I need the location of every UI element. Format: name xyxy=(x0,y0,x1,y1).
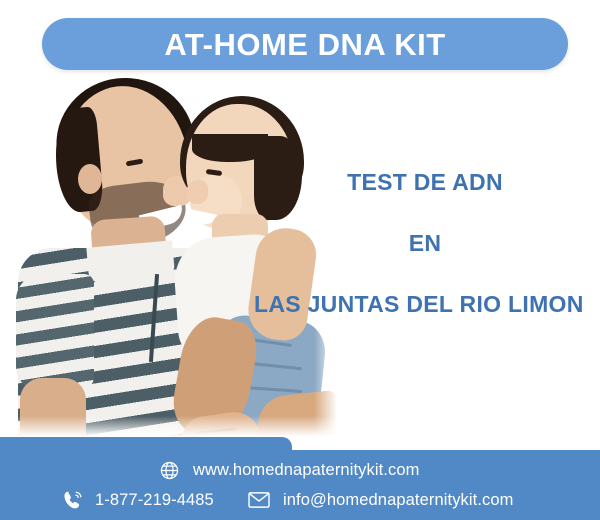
envelope-icon xyxy=(248,489,270,511)
globe-icon xyxy=(158,459,180,481)
footer-phone[interactable]: 1-877-219-4485 xyxy=(62,489,214,511)
header-banner: AT-HOME DNA KIT xyxy=(42,18,568,70)
photo-canvas xyxy=(0,78,340,440)
footer-content: www.homednapaternitykit.com 1-877-219-44… xyxy=(0,437,600,520)
footer-website[interactable]: www.homednapaternitykit.com xyxy=(158,459,419,481)
child-nose xyxy=(186,180,208,204)
father-and-child-photo xyxy=(0,78,340,440)
footer-phone-label: 1-877-219-4485 xyxy=(95,491,214,510)
photo-right-fade xyxy=(314,78,340,440)
man-shirt-sleeve xyxy=(16,274,94,392)
phone-icon xyxy=(62,489,84,511)
poster-root: AT-HOME DNA KIT xyxy=(0,0,600,520)
footer-email-label: info@homednapaternitykit.com xyxy=(283,491,514,510)
footer-email[interactable]: info@homednapaternitykit.com xyxy=(248,489,514,511)
page-title: AT-HOME DNA KIT xyxy=(164,29,445,60)
child-bangs xyxy=(192,134,268,162)
footer-bar: www.homednapaternitykit.com 1-877-219-44… xyxy=(0,437,600,520)
footer-website-label: www.homednapaternitykit.com xyxy=(193,461,419,480)
